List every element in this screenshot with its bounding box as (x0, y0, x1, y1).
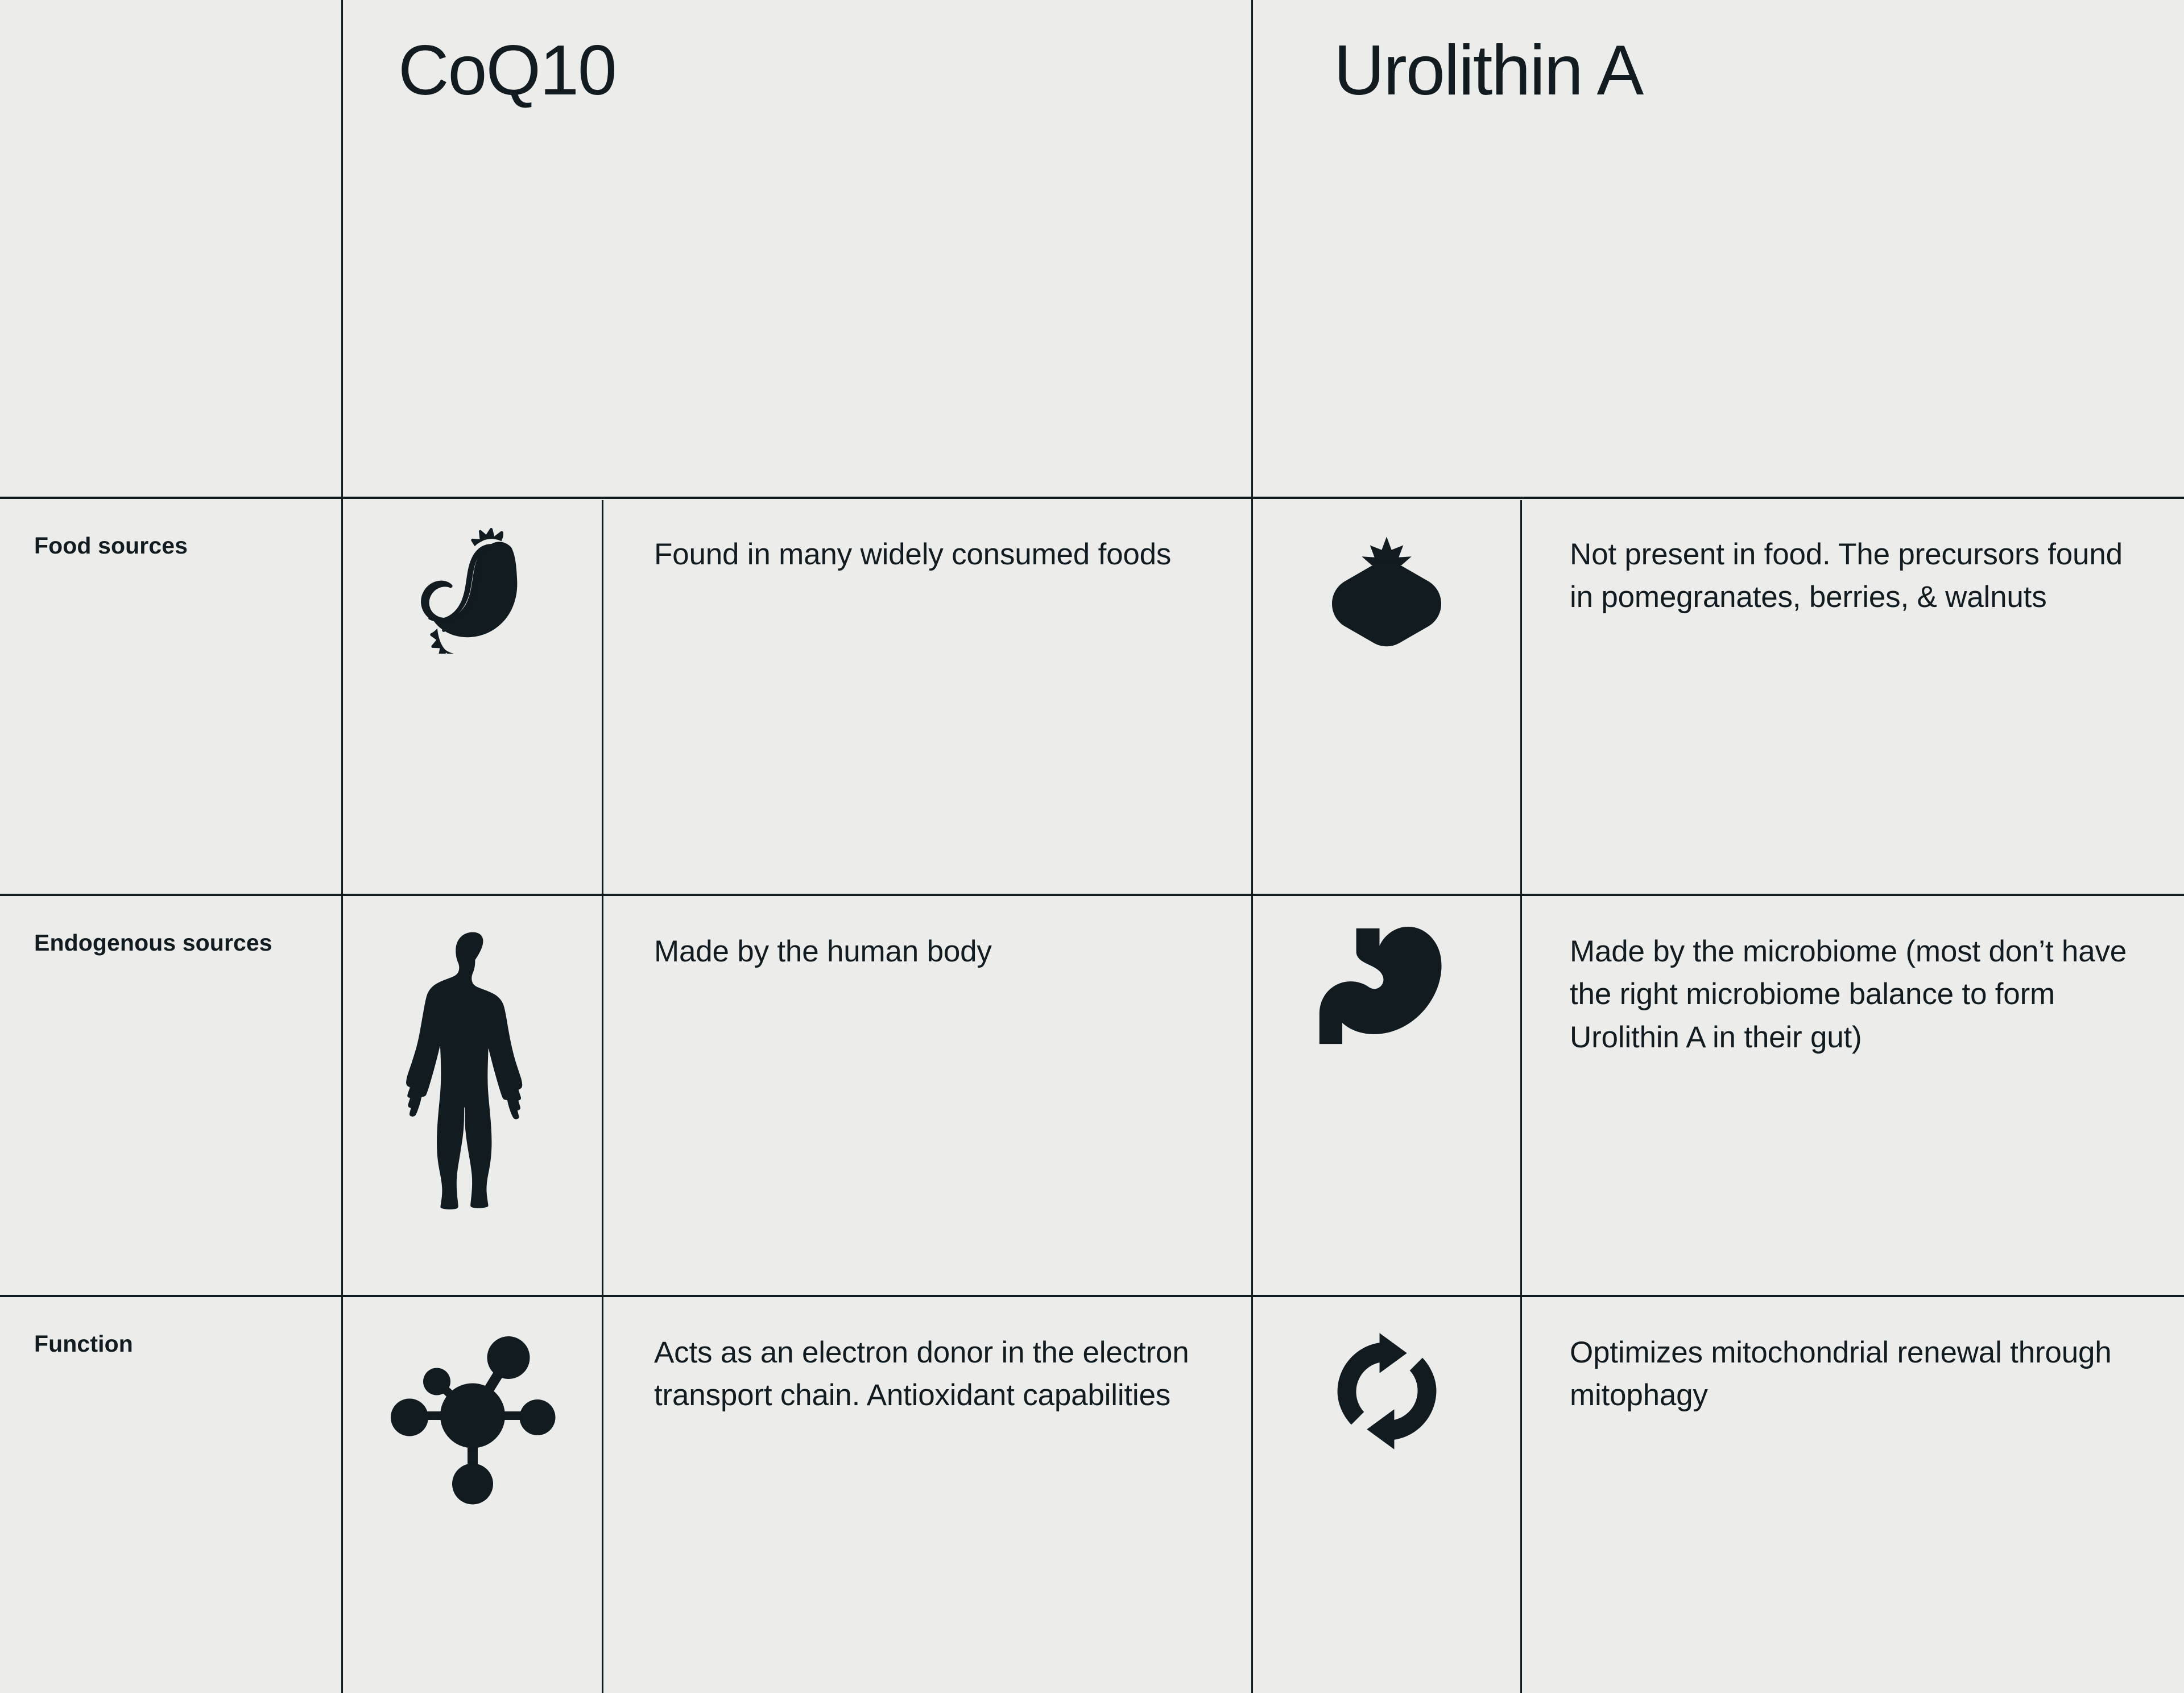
cell-text-ua-food-sources: Not present in food. The precursors foun… (1570, 533, 2138, 619)
cell-icon-coq10-food-sources (343, 523, 602, 654)
cell-icon-ua-endogenous-sources (1253, 920, 1520, 1051)
cell-text-coq10-endogenous-sources: Made by the human body (654, 930, 1223, 973)
table-row: Food sources Found in many widely consum… (0, 500, 2184, 895)
cell-text-ua-function: Optimizes mitochondrial renewal through … (1570, 1331, 2138, 1417)
cell-icon-coq10-endogenous-sources (343, 927, 602, 1251)
cell-icon-ua-function (1253, 1324, 1520, 1458)
stomach-icon (1316, 920, 1458, 1051)
molecule-icon (387, 1320, 558, 1513)
cell-icon-coq10-function (343, 1320, 602, 1513)
row-label-endogenous-sources: Endogenous sources (34, 926, 318, 960)
renewal-cycle-icon (1320, 1324, 1454, 1458)
comparison-table: CoQ10 Urolithin A Food sources Found in … (0, 0, 2184, 1693)
cell-text-coq10-function: Acts as an electron donor in the electro… (654, 1331, 1223, 1417)
cell-icon-ua-food-sources (1253, 518, 1520, 655)
cell-text-ua-endogenous-sources: Made by the microbiome (most don’t have … (1570, 930, 2138, 1059)
column-header-urolithin-a: Urolithin A (1334, 31, 1643, 110)
human-body-icon (396, 927, 549, 1251)
row-label-food-sources: Food sources (34, 528, 318, 563)
column-header-coq10: CoQ10 (398, 31, 616, 110)
table-row: Function (0, 1298, 2184, 1693)
table-row: Endogenous sources Made by the human bod… (0, 897, 2184, 1296)
pomegranate-icon (1318, 518, 1455, 655)
table-header-row: CoQ10 Urolithin A (0, 0, 2184, 498)
sausage-icon (407, 523, 538, 654)
cell-text-coq10-food-sources: Found in many widely consumed foods (654, 533, 1223, 576)
row-label-function: Function (34, 1327, 318, 1361)
